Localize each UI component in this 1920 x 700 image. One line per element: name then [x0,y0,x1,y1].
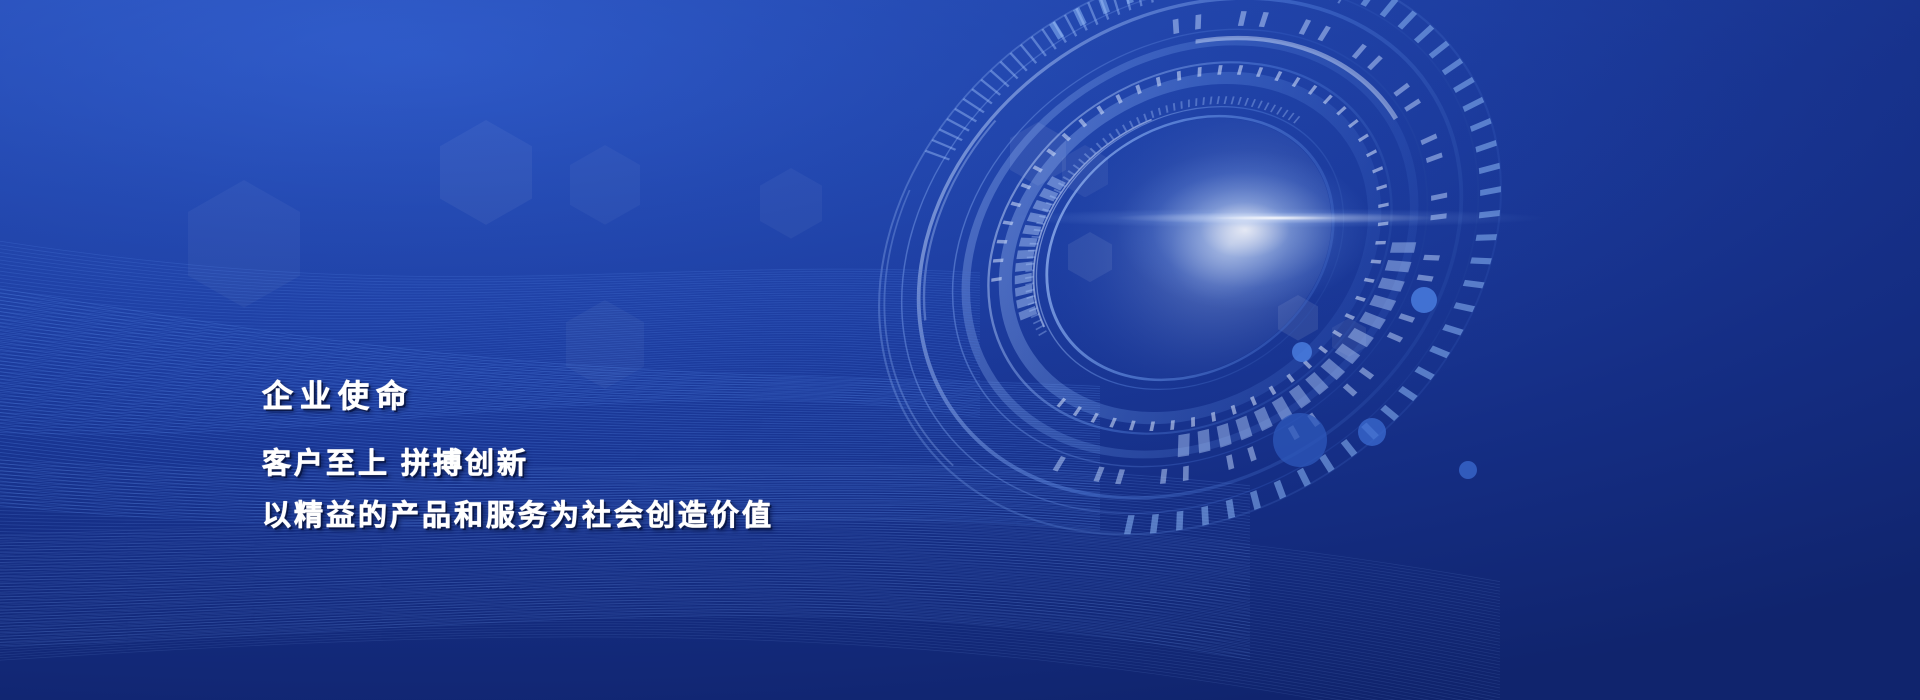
hud-tick [1073,7,1087,26]
wave-line [0,591,1250,646]
hud-tick [1021,183,1032,190]
wave-line [0,562,1500,639]
hud-tick [1064,14,1077,36]
hud-tick [1250,396,1257,406]
wave-line [0,539,1500,610]
wave-line [0,544,1500,617]
wave-line [0,588,1250,643]
hud-tick [1067,170,1075,175]
hud-tick [1343,383,1358,396]
hud-tick [1251,99,1256,107]
hud-tick [1165,105,1168,113]
hud-tick [1462,97,1484,112]
hud-tick [1270,104,1276,112]
wave-line [0,193,980,282]
hud-tick [1238,11,1247,26]
hud-tick [1173,19,1180,35]
wave-line [0,274,1100,386]
wave-line [0,575,1500,656]
accent-dot [1273,413,1327,467]
hud-tick [1470,118,1492,132]
wave-line [0,595,1250,650]
hud-tick [1231,96,1235,104]
wave-line [0,593,1500,678]
hud-tick [1211,412,1216,422]
hud-tick [1173,103,1176,111]
hud-tick [1336,106,1346,116]
hud-tick [1276,107,1282,115]
hud-tick [1073,164,1080,170]
hud-tick [1087,2,1098,25]
hud-tick [1093,467,1104,482]
hud-tick [1380,405,1399,421]
foreground-wave-lines [0,0,1920,700]
hud-tick [1476,234,1498,241]
hud-tick [1015,273,1032,285]
wave-line [0,200,980,288]
wave-line [0,637,1500,700]
hud-tick [980,79,1001,96]
hud-tick [1188,99,1190,107]
page-title: 企业使命 [262,378,774,417]
hud-tick [1158,108,1161,116]
hud-tick [1032,165,1042,172]
hud-tick [1202,97,1205,105]
hud-tick [1056,398,1066,408]
hud-tick [1197,67,1201,77]
hud-tick [1078,118,1087,127]
wave-line [0,289,980,367]
hud-tick [1123,0,1131,11]
hud-tick [1123,0,1134,4]
wave-line [0,580,1500,662]
hud-tick [1475,140,1497,153]
hud-tick [1426,152,1443,163]
hud-tick [1033,319,1042,324]
hud-tick [971,88,992,104]
hud-tick [1429,345,1450,358]
hud-tick [1135,0,1142,7]
hud-tick [1177,71,1181,81]
wave-line [0,232,980,316]
wave-line [0,241,980,324]
wave-line [0,611,1500,700]
wave-line [0,309,980,386]
hud-tick [1387,332,1403,343]
wave-line [0,608,1500,698]
wave-line [0,616,1500,700]
wave-line [0,606,1500,695]
hud-tick [1026,289,1035,293]
wave-line [0,270,980,350]
wave-line [0,261,980,342]
hud-tick [1429,41,1450,59]
hud-tick [1217,423,1232,448]
mission-text-block: 企业使命 客户至上 拼搏创新 以精益的产品和服务为社会创造价值 [262,378,774,540]
hud-tick [1289,385,1311,409]
hud-tick [990,70,1010,88]
hud-tick [1148,0,1154,3]
wave-line [0,280,1100,391]
wave-line [0,286,980,364]
hud-tick [1149,421,1155,431]
hud-tick [1039,188,1058,202]
wave-line [0,559,1500,635]
hud-tick [1109,418,1117,428]
wave-line [0,296,980,374]
hud-tick [1058,182,1066,187]
hud-tick [1250,490,1261,510]
corporate-mission-banner: 企业使命 客户至上 拼搏创新 以精益的产品和服务为社会创造价值 [0,0,1920,700]
wave-line [0,613,1500,700]
hud-tick [1341,439,1358,457]
wave-line [0,235,980,318]
wave-line [0,273,980,353]
wave-line [0,536,1500,607]
hud-tick [1414,366,1434,380]
hud-tick [1318,346,1328,354]
hud-tick [1348,119,1359,128]
hud-tick [1288,425,1300,440]
hud-tick [1029,243,1038,245]
hud-tick [1317,26,1330,42]
hud-tick [1286,374,1295,383]
hud-tick [1049,195,1057,199]
hud-tick [1288,113,1295,121]
hud-tick [1480,186,1501,196]
wave-line [0,534,1250,590]
hud-tick [1453,302,1475,312]
wave-line [0,531,1500,600]
hud-tick [1129,120,1134,127]
wave-line [0,283,980,362]
wave-line [0,601,1500,689]
wave-line [0,551,1250,606]
accent-dots [0,0,1920,700]
hud-tick [1020,44,1037,64]
hud-tick [1367,55,1383,70]
flowing-wave-lines [0,0,1920,700]
hud-tick [1041,28,1056,49]
wave-line [0,544,1250,600]
hud-tick [1075,8,1087,31]
hud-tick [1028,301,1037,306]
wave-line [0,245,980,327]
hud-tick [1136,117,1141,125]
wave-line [0,590,1500,675]
wave-line [0,554,1250,609]
hud-tick [1259,12,1269,27]
hud-tick [1031,36,1047,57]
background-texture [0,0,1920,700]
lens-flare-streak [930,205,1650,231]
hud-tick [1025,282,1034,286]
hud-tick [1274,71,1282,81]
hud-tick [1150,514,1159,534]
hud-tick [1303,360,1312,369]
wave-line [0,190,980,279]
hud-tick [1073,406,1082,416]
hud-tick [1217,96,1220,104]
hud-tick [1257,101,1262,109]
hud-tick [1417,275,1434,282]
hud-tick [1226,499,1235,519]
wave-line [0,629,1500,700]
hud-tick [1359,367,1374,379]
hud-tick [1307,413,1320,427]
wave-line [0,598,1500,685]
hud-tick [1098,0,1110,15]
hud-tick [1352,44,1367,59]
hud-tick [1256,67,1263,77]
wave-line [0,621,1500,700]
hud-tick [1420,134,1437,146]
accent-dot [1459,461,1477,479]
hud-tick [1178,433,1190,457]
wave-line [0,277,1100,388]
wave-line [0,574,1250,629]
hud-tick [1115,469,1125,484]
wave-line [0,238,980,321]
wave-line [0,197,980,285]
hud-tick [1111,0,1120,15]
wave-line [0,570,1500,649]
wave-line [0,257,980,338]
hud-tick [1235,415,1252,440]
wave-line [0,277,980,356]
hud-tick [1431,192,1447,200]
wave-line [0,187,980,277]
hud-tick [925,150,950,161]
wave-line [0,567,1500,645]
hud-tick [1031,236,1040,238]
wave-line [0,624,1500,700]
wave-line [0,305,980,382]
hud-tick [1308,85,1317,95]
hud-tick [1025,269,1034,272]
hud-tick [1063,176,1071,181]
wave-line [0,206,980,293]
wave-line [0,547,1250,602]
hud-tick [1038,330,1047,336]
wave-line [0,293,980,371]
hud-tick [1035,325,1044,331]
hud-tick [1299,19,1311,35]
wave-line [0,534,1500,604]
hud-tick [1348,328,1374,347]
hud-tick [1025,276,1033,279]
hud-tick [1096,105,1104,115]
hud-tick [939,128,963,141]
wave-line [0,299,980,376]
hexagon-shape [566,300,644,389]
wave-line [0,571,1250,626]
hud-tick [1180,101,1182,109]
wave-line [0,632,1500,700]
wave-line [0,581,1250,636]
hud-tick [1319,454,1334,473]
hud-tick [1414,25,1434,44]
wave-line [0,537,1250,593]
hud-tick [1361,422,1379,439]
hud-tick [1453,77,1475,93]
hud-tick [1404,99,1421,112]
hud-tick [946,118,970,132]
wave-line [0,602,1250,657]
wave-line [0,225,980,310]
wave-line [0,547,1500,620]
hud-tick [1031,313,1040,318]
hud-tick [1297,468,1311,487]
hud-tick [1305,372,1328,395]
wave-line [0,561,1250,616]
wave-line [0,603,1500,691]
hud-tick [1323,95,1333,105]
hud-tick [963,98,985,113]
hud-tick [1247,446,1256,462]
hud-tick [1046,148,1056,156]
hud-tick [1124,515,1135,534]
wave-line [0,280,980,359]
tech-circle-hud-graphic [0,0,1920,700]
hud-tick [1209,97,1212,105]
wave-line [0,264,980,344]
wave-line [0,634,1500,700]
hud-tick [1016,295,1034,309]
accent-dot [1358,418,1386,446]
hud-tick [1052,21,1066,43]
wave-line [0,203,980,290]
hud-tick [1337,0,1354,4]
hud-tick [1191,417,1195,427]
wave-line [0,588,1500,672]
wave-line [0,229,980,313]
wave-line [0,312,980,389]
hud-tick [1091,413,1099,423]
hud-tick [1479,163,1500,174]
hud-tick [1019,238,1038,247]
hud-tick [1143,113,1147,121]
hud-tick [1183,466,1189,481]
hud-tick [1321,358,1346,380]
hexagon-shape [760,168,822,239]
hud-tick [1282,110,1289,118]
wave-line [0,572,1500,652]
hud-tick [1237,65,1243,75]
hud-tick [1016,250,1034,259]
hud-tick [1062,133,1072,142]
hud-tick [1231,405,1237,415]
wave-line [0,595,1500,681]
hud-tick [1380,0,1399,17]
hud-tick [1027,256,1036,258]
hud-tick [1463,280,1485,289]
wave-line [0,582,1500,665]
hud-tick [1018,306,1037,320]
hud-tick [1442,58,1463,75]
wave-line [0,216,980,302]
wave-line [0,585,1250,640]
hud-tick [1254,407,1273,432]
hexagon-shape [188,180,300,308]
hud-tick [1272,396,1293,420]
hud-tick [1332,330,1342,338]
mission-slogan-line-1: 客户至上 拼搏创新 [262,441,774,487]
hud-tick [1053,456,1066,472]
hud-tick [1470,257,1492,264]
hud-tick [954,108,977,122]
wave-line [0,577,1500,658]
hud-tick [1156,77,1161,87]
hud-tick [1201,506,1209,526]
accent-dot [1411,287,1437,313]
wave-line [0,552,1500,627]
hud-tick [1135,84,1141,94]
wave-line [0,549,1500,623]
hud-tick [1054,189,1062,194]
hud-tick [1195,98,1197,106]
wave-line [0,267,980,347]
hud-tick [1195,14,1201,29]
wave-line [0,540,1250,596]
hud-tick [1049,21,1064,40]
wave-line [0,219,980,304]
wave-line [0,248,980,330]
wave-line [0,554,1500,629]
hexagon-shape [570,145,640,225]
hud-tick [993,259,1004,263]
hud-tick [1115,94,1122,104]
hud-tick [1360,0,1378,7]
wave-line [0,541,1500,613]
wave-line [0,213,980,299]
hud-tick [1160,469,1167,484]
hud-tick [1015,261,1033,272]
hexagon-cluster [0,0,1920,700]
wave-line [0,585,1500,668]
hud-tick [1398,386,1418,401]
wave-line [0,251,980,333]
accent-dot [1292,342,1312,362]
hud-tick [1151,110,1155,118]
wave-line [0,254,980,335]
hud-tick [1292,77,1301,87]
hud-tick [932,139,957,151]
hud-tick [1198,429,1211,454]
wave-line [0,568,1250,623]
hud-tick [1293,116,1300,124]
mission-slogan-line-2: 以精益的产品和服务为社会创造价值 [262,493,774,539]
hud-tick [1393,83,1410,97]
hud-tick [1015,284,1033,297]
hud-tick [1237,97,1241,105]
wave-line [0,222,980,307]
wave-line [0,557,1250,612]
hud-tick [1170,420,1175,430]
wave-line [0,557,1500,633]
hexagon-shape [1010,122,1066,186]
wave-line [0,619,1500,700]
hud-tick [1026,295,1035,299]
hud-tick [997,240,1008,244]
hud-tick [1129,421,1136,431]
hud-tick [1423,255,1440,261]
hud-tick [1442,324,1463,335]
wave-line [0,627,1500,700]
hud-tick [1028,250,1037,252]
hud-tick [1335,343,1361,364]
hud-tick [1099,0,1109,20]
